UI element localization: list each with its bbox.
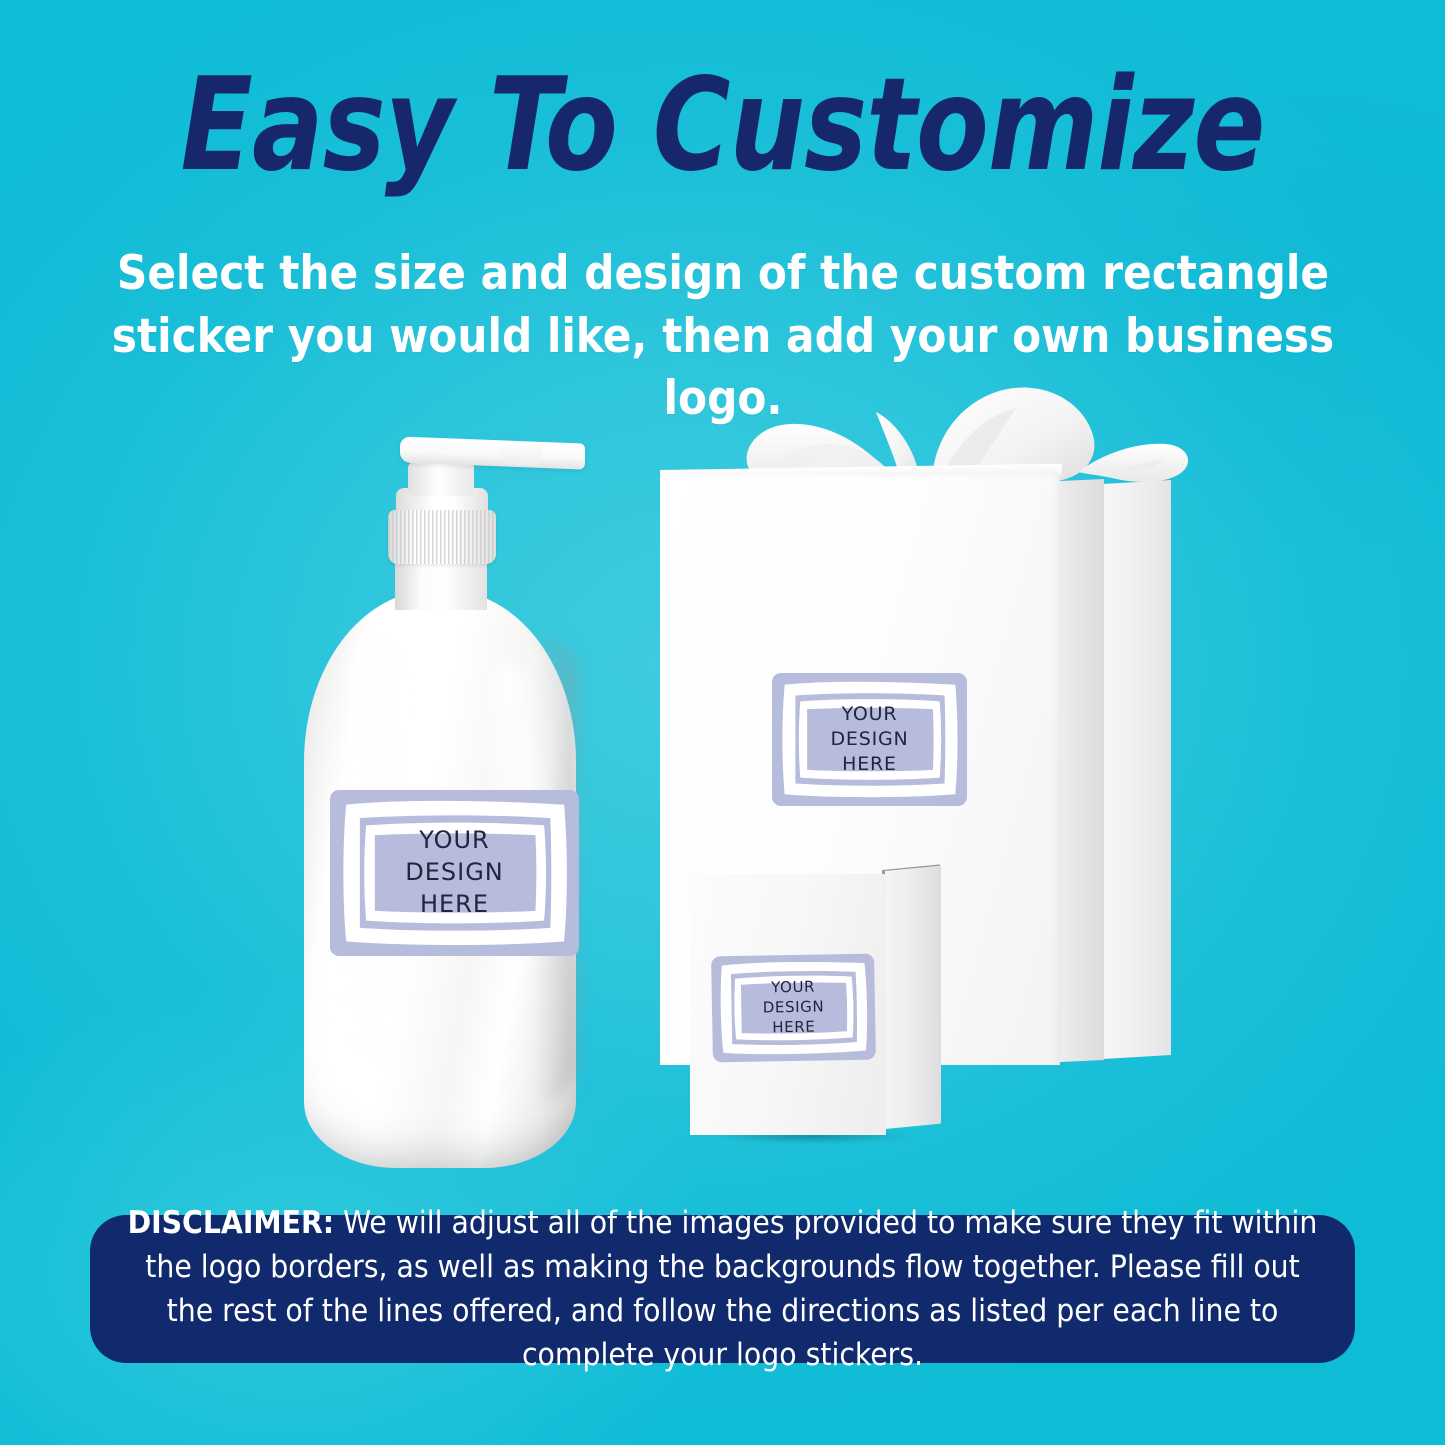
sticker-text: YOUR DESIGN HERE	[762, 978, 824, 1038]
promo-image: Easy To Customize Select the size and de…	[0, 0, 1445, 1445]
sticker-label-gift-box[interactable]: YOUR DESIGN HERE	[772, 673, 967, 806]
disclaimer-text: DISCLAIMER: We will adjust all of the im…	[122, 1201, 1323, 1377]
sticker-line-2: DESIGN	[830, 727, 908, 752]
pump-plunger	[408, 462, 474, 496]
sticker-line-1: YOUR	[830, 702, 908, 727]
sticker-text: YOUR DESIGN HERE	[405, 825, 504, 920]
gift-box-side-back	[1103, 480, 1171, 1059]
pump-collar-ribbed	[388, 510, 496, 564]
product-scene: YOUR DESIGN HERE YOUR DESIGN HER	[0, 0, 1445, 1200]
disclaimer-lead: DISCLAIMER:	[128, 1205, 335, 1241]
sticker-line-3: HERE	[405, 889, 504, 921]
sticker-label-small-box[interactable]: YOUR DESIGN HERE	[711, 954, 876, 1063]
sticker-text: YOUR DESIGN HERE	[830, 702, 908, 777]
small-box-side-face	[885, 866, 941, 1129]
disclaimer-box: DISCLAIMER: We will adjust all of the im…	[90, 1215, 1355, 1363]
sticker-line-1: YOUR	[405, 825, 504, 857]
sticker-line-1: YOUR	[762, 978, 824, 999]
sticker-line-3: HERE	[763, 1017, 825, 1038]
pump-nozzle-spout	[500, 442, 542, 466]
sticker-label-bottle[interactable]: YOUR DESIGN HERE	[330, 790, 579, 956]
sticker-line-2: DESIGN	[763, 998, 825, 1019]
gift-box-side-front	[1060, 479, 1104, 1062]
sticker-line-2: DESIGN	[405, 857, 504, 889]
sticker-line-3: HERE	[830, 752, 908, 777]
